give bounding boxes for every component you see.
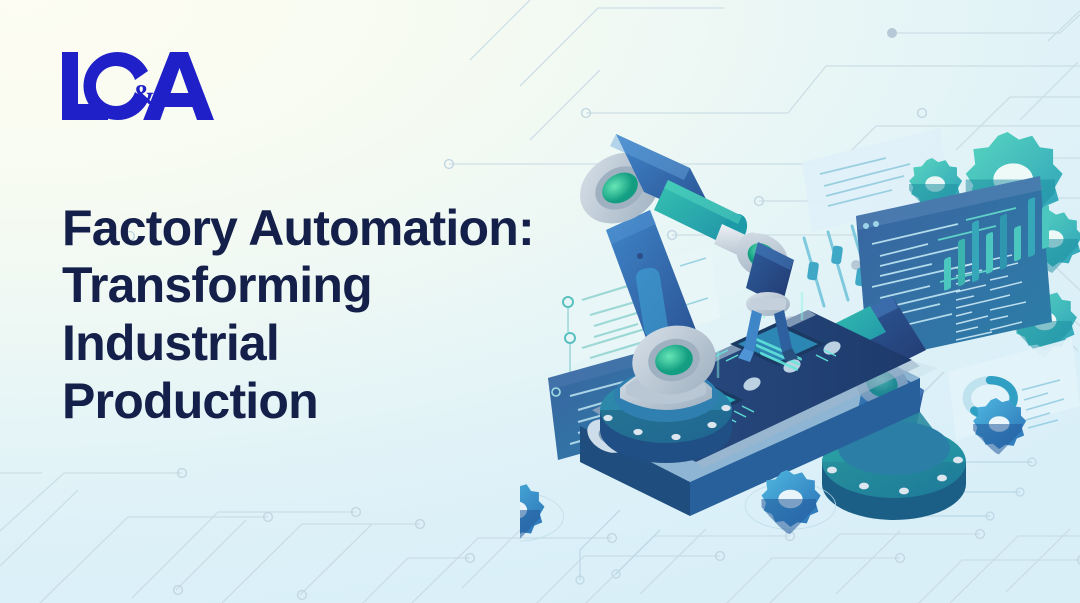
left-content-column: & Factory Automation: Transforming Indus… xyxy=(0,0,560,603)
page-title: Factory Automation: Transforming Industr… xyxy=(62,200,542,431)
factory-automation-illustration xyxy=(520,110,1080,603)
logo-ampersand: & xyxy=(132,80,155,111)
lca-logo[interactable]: & xyxy=(58,48,218,124)
banner-root: & Factory Automation: Transforming Indus… xyxy=(0,0,1080,603)
gear-bottom-left xyxy=(520,482,564,544)
